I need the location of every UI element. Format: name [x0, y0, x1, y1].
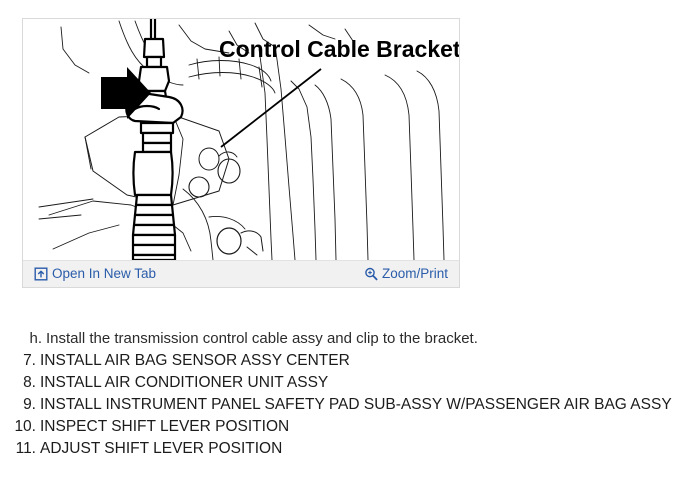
step-text: INSTALL AIR CONDITIONER UNIT ASSY — [40, 374, 328, 392]
step-text: INSTALL INSTRUMENT PANEL SAFETY PAD SUB-… — [40, 396, 672, 414]
procedure-step: 9. INSTALL INSTRUMENT PANEL SAFETY PAD S… — [0, 396, 677, 418]
figure-image[interactable]: Control Cable Bracket — [23, 19, 459, 260]
step-text: INSTALL AIR BAG SENSOR ASSY CENTER — [40, 352, 350, 370]
procedure-step-list: h. Install the transmission control cabl… — [0, 330, 677, 462]
magnifier-plus-icon — [364, 267, 378, 281]
step-marker: 9. — [0, 396, 40, 414]
zoom-print-link[interactable]: Zoom/Print — [364, 265, 448, 283]
step-marker: 11. — [0, 440, 40, 458]
step-marker: 7. — [0, 352, 40, 370]
figure-viewer-panel: Control Cable Bracket Open In New Tab — [22, 18, 460, 288]
step-marker: h. — [0, 330, 46, 347]
step-marker: 8. — [0, 374, 40, 392]
procedure-step: 10. INSPECT SHIFT LEVER POSITION — [0, 418, 677, 440]
open-in-new-tab-icon — [34, 267, 48, 281]
step-text: ADJUST SHIFT LEVER POSITION — [40, 440, 282, 458]
procedure-step: 8. INSTALL AIR CONDITIONER UNIT ASSY — [0, 374, 677, 396]
procedure-step: 7. INSTALL AIR BAG SENSOR ASSY CENTER — [0, 352, 677, 374]
step-text: INSPECT SHIFT LEVER POSITION — [40, 418, 289, 436]
zoom-print-label: Zoom/Print — [382, 265, 448, 283]
figure-toolbar: Open In New Tab Zoom/Print — [23, 260, 459, 287]
open-in-new-tab-link[interactable]: Open In New Tab — [34, 265, 156, 283]
step-text: Install the transmission control cable a… — [46, 330, 478, 347]
open-in-new-tab-label: Open In New Tab — [52, 265, 156, 283]
step-marker: 10. — [0, 418, 40, 436]
figure-callout-label: Control Cable Bracket — [219, 36, 459, 62]
procedure-step: h. Install the transmission control cabl… — [0, 330, 677, 352]
technical-line-drawing: Control Cable Bracket — [23, 19, 459, 260]
procedure-step: 11. ADJUST SHIFT LEVER POSITION — [0, 440, 677, 462]
